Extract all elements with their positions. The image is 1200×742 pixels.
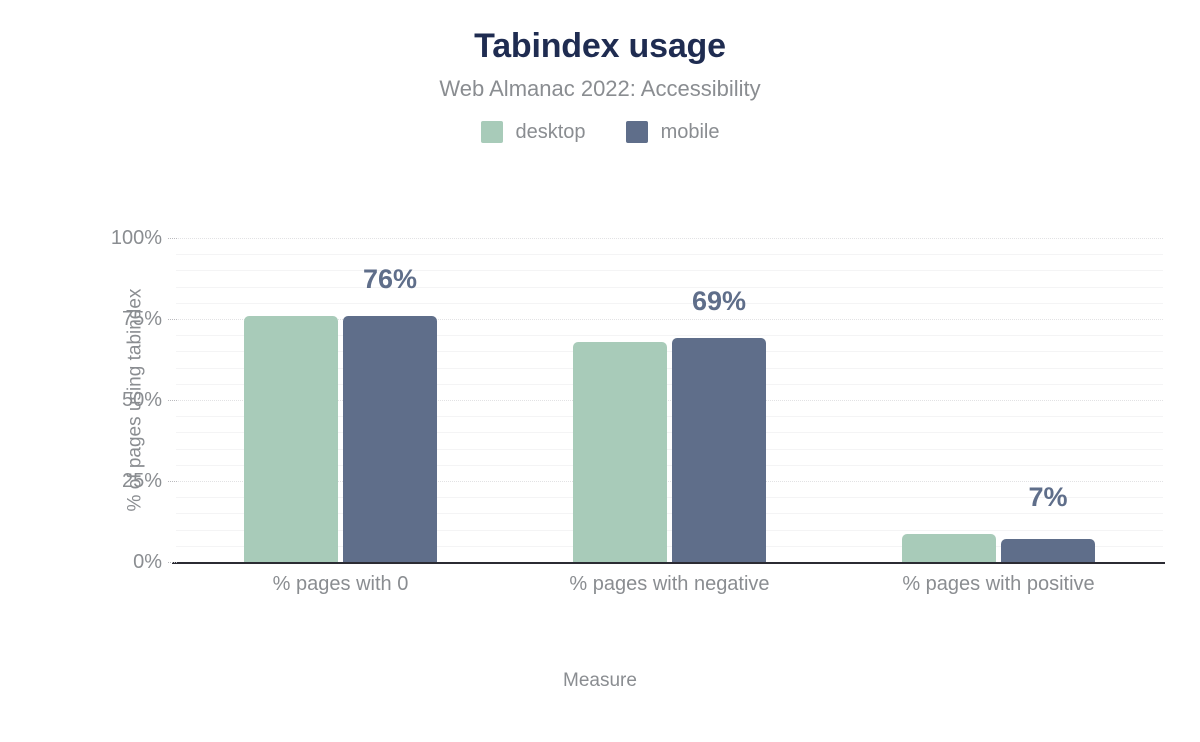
bar-mobile-2[interactable] — [1001, 539, 1095, 562]
chart-title: Tabindex usage — [0, 28, 1200, 65]
plot-area — [176, 238, 1163, 563]
x-category-label: % pages with 0 — [273, 574, 409, 594]
legend-label-desktop: desktop — [516, 122, 586, 142]
gridline-minor — [176, 351, 1163, 352]
gridline-minor — [176, 513, 1163, 514]
gridline-major — [176, 238, 1163, 239]
legend-swatch-desktop — [481, 121, 503, 143]
legend-item-mobile[interactable]: mobile — [626, 121, 720, 143]
gridline-minor — [176, 497, 1163, 498]
bar-desktop-0[interactable] — [244, 316, 338, 562]
y-axis-title: % of pages using tabindex — [124, 289, 146, 512]
gridline-minor — [176, 287, 1163, 288]
x-axis-baseline — [172, 562, 1165, 564]
y-tick-label: 0% — [42, 552, 162, 572]
legend-swatch-mobile — [626, 121, 648, 143]
gridline-minor — [176, 546, 1163, 547]
gridline-minor — [176, 449, 1163, 450]
y-tick-label: 25% — [42, 471, 162, 491]
gridline-minor — [176, 530, 1163, 531]
bar-mobile-1[interactable] — [672, 338, 766, 562]
bar-value-label: 76% — [363, 266, 417, 293]
y-tick-label: 75% — [42, 309, 162, 329]
x-axis-title: Measure — [0, 670, 1200, 692]
y-tick-mark — [168, 400, 177, 401]
y-tick-mark — [168, 319, 177, 320]
chart-legend: desktop mobile — [0, 121, 1200, 143]
gridline-minor — [176, 270, 1163, 271]
y-tick-mark — [168, 238, 177, 239]
gridline-minor — [176, 368, 1163, 369]
y-tick-mark — [168, 481, 177, 482]
bar-desktop-1[interactable] — [573, 342, 667, 562]
x-category-label: % pages with positive — [902, 574, 1094, 594]
gridline-major — [176, 319, 1163, 320]
bar-desktop-2[interactable] — [902, 534, 996, 562]
gridline-minor — [176, 465, 1163, 466]
x-category-label: % pages with negative — [569, 574, 769, 594]
gridline-major — [176, 400, 1163, 401]
gridline-major — [176, 562, 1163, 563]
gridline-major — [176, 481, 1163, 482]
y-tick-label: 50% — [42, 390, 162, 410]
chart-header: Tabindex usage Web Almanac 2022: Accessi… — [0, 0, 1200, 143]
bar-value-label: 7% — [1028, 484, 1067, 511]
gridline-minor — [176, 254, 1163, 255]
gridline-minor — [176, 335, 1163, 336]
gridline-minor — [176, 432, 1163, 433]
bar-value-label: 69% — [692, 288, 746, 315]
legend-item-desktop[interactable]: desktop — [481, 121, 586, 143]
chart-subtitle: Web Almanac 2022: Accessibility — [0, 77, 1200, 101]
gridline-minor — [176, 384, 1163, 385]
gridline-minor — [176, 416, 1163, 417]
legend-label-mobile: mobile — [661, 122, 720, 142]
bar-mobile-0[interactable] — [343, 316, 437, 562]
gridline-minor — [176, 303, 1163, 304]
y-tick-label: 100% — [42, 228, 162, 248]
y-tick-mark — [168, 562, 177, 563]
